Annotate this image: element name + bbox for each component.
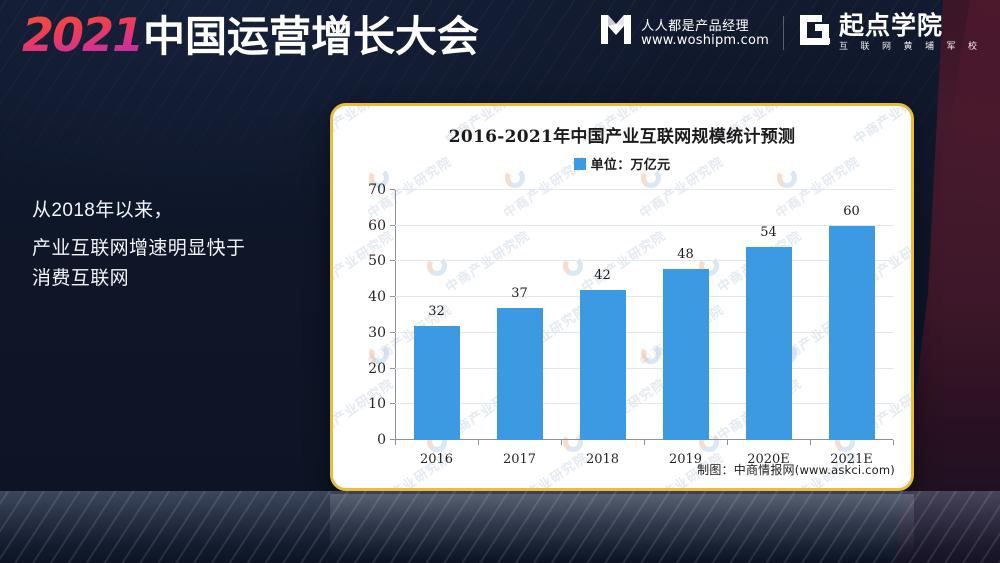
watermark-logo-icon xyxy=(913,344,914,364)
chart-bar-value-label: 37 xyxy=(490,287,550,300)
background-floor-glow xyxy=(0,491,1000,563)
y-axis-tick-mark xyxy=(390,260,395,261)
chart-source-url: (www.askci.com) xyxy=(795,463,895,477)
y-axis-tick-label: 20 xyxy=(368,362,386,376)
left-commentary: 从2018年以来， 产业互联网增速明显快于 消费互联网 xyxy=(32,196,308,294)
page-title-year: 2021 xyxy=(22,12,142,58)
chart-source-note: 制图：中商情报网(www.askci.com) xyxy=(697,461,895,478)
watermark-text: 中商产业研究院 xyxy=(330,225,397,296)
woshipm-logo-texts: 人人都是产品经理 www.woshipm.com xyxy=(641,18,769,48)
y-axis-tick-label: 30 xyxy=(368,326,386,340)
x-axis-category-label: 2016 xyxy=(397,453,477,466)
y-axis-tick-mark xyxy=(390,332,395,333)
chart-card-reflection-stripes xyxy=(330,494,914,560)
x-axis-tick-mark xyxy=(810,440,811,445)
chart-plot-area: 0102030405060703220163720174220184820195… xyxy=(395,190,893,440)
page-title-text: 中国运营增长大会 xyxy=(143,14,479,60)
chart-title: 2016-2021年中国产业互联网规模统计预测 xyxy=(333,122,911,147)
left-commentary-line-2: 产业互联网增速明显快于 xyxy=(32,234,308,264)
slide-canvas: 2021 中国运营增长大会 人人都是产品经理 www.woshipm.com xyxy=(0,0,1000,563)
y-axis-tick-label: 50 xyxy=(368,254,386,268)
chart-bar-value-label: 32 xyxy=(407,305,467,318)
chart-gridline xyxy=(395,368,893,369)
chart-bar-value-label: 42 xyxy=(573,269,633,282)
x-axis-tick-mark xyxy=(727,440,728,445)
watermark-text: 中商产业研究院 xyxy=(907,447,914,491)
x-axis-tick-mark xyxy=(644,440,645,445)
qidian-logo-cn: 起点学院 xyxy=(839,13,982,40)
y-axis-tick-mark xyxy=(390,296,395,297)
chart-gridline xyxy=(395,296,893,297)
y-axis-tick-label: 10 xyxy=(368,397,386,411)
logo-qidian: 起点学院 互 联 网 黄 埔 军 校 xyxy=(798,13,982,52)
chart-bar[interactable] xyxy=(414,326,460,440)
chart-card-reflection: 20162017201820192020E2021E制图：中商情报网(www.a… xyxy=(330,494,914,560)
logo-woshipm: 人人都是产品经理 www.woshipm.com xyxy=(598,13,769,52)
watermark-text: 中商产业研究院 xyxy=(907,299,914,370)
qidian-logo-texts: 起点学院 互 联 网 黄 埔 军 校 xyxy=(839,13,982,52)
chart-bar-value-label: 48 xyxy=(656,248,716,261)
chart-bar[interactable] xyxy=(580,290,626,440)
y-axis-tick-mark xyxy=(390,225,395,226)
chart-bar[interactable] xyxy=(746,247,792,440)
brand-logos: 人人都是产品经理 www.woshipm.com 起点学院 互 联 网 黄 埔 … xyxy=(598,13,982,52)
y-axis-tick-mark xyxy=(390,189,395,190)
logo-divider xyxy=(783,16,784,50)
y-axis-tick-mark xyxy=(390,368,395,369)
y-axis-tick-mark xyxy=(390,403,395,404)
chart-card-reflection-inner: 20162017201820192020E2021E制图：中商情报网(www.a… xyxy=(330,494,914,560)
legend-swatch-icon xyxy=(574,158,586,170)
woshipm-m-logo-icon xyxy=(598,13,634,52)
x-axis-tick-mark xyxy=(395,440,396,445)
chart-gridline xyxy=(395,403,893,404)
legend-label: 单位：万亿元 xyxy=(591,154,671,173)
chart-bar[interactable] xyxy=(663,269,709,440)
chart-gridline xyxy=(395,332,893,333)
x-axis-category-label: 2017 xyxy=(480,453,560,466)
y-axis-tick-label: 0 xyxy=(377,433,386,447)
x-axis-tick-mark xyxy=(478,440,479,445)
left-commentary-line-1: 从2018年以来， xyxy=(32,196,308,226)
y-axis-tick-label: 40 xyxy=(368,290,386,304)
woshipm-logo-cn: 人人都是产品经理 xyxy=(641,18,769,33)
chart-bar-value-label: 60 xyxy=(822,205,882,218)
chart-gridline xyxy=(395,225,893,226)
left-commentary-line-3: 消费互联网 xyxy=(32,264,308,294)
watermark-text: 中商产业研究院 xyxy=(330,373,397,444)
chart-bar-value-label: 54 xyxy=(739,226,799,239)
x-axis-category-label: 2018 xyxy=(563,453,643,466)
background-floor-stripes xyxy=(0,491,1000,563)
qidian-bracket-logo-icon xyxy=(798,13,832,52)
chart-gridline xyxy=(395,189,893,190)
x-axis-tick-mark xyxy=(893,440,894,445)
woshipm-logo-url: www.woshipm.com xyxy=(641,33,769,48)
slide-header: 2021 中国运营增长大会 人人都是产品经理 www.woshipm.com xyxy=(0,0,1000,72)
chart-gridline xyxy=(395,260,893,261)
chart-bar[interactable] xyxy=(829,226,875,440)
y-axis-tick-label: 60 xyxy=(368,219,386,233)
x-axis-tick-mark xyxy=(561,440,562,445)
page-title: 2021 中国运营增长大会 xyxy=(22,12,479,60)
chart-source-prefix: 制图：中商情报网 xyxy=(697,463,795,477)
chart-legend: 单位：万亿元 xyxy=(333,154,911,173)
qidian-logo-sub: 互 联 网 黄 埔 军 校 xyxy=(839,40,982,52)
chart-bar[interactable] xyxy=(497,308,543,440)
y-axis-tick-label: 70 xyxy=(368,183,386,197)
chart-card: 中商产业研究院中商产业研究院中商产业研究院中商产业研究院中商产业研究院中商产业研… xyxy=(330,103,914,491)
watermark-logo-icon xyxy=(913,168,914,188)
